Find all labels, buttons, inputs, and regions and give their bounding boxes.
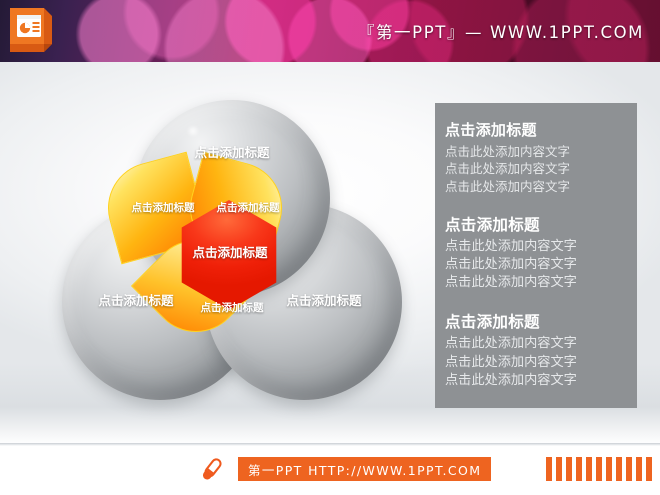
footer-url-text: 第一PPT HTTP://WWW.1PPT.COM bbox=[248, 460, 481, 479]
slide-preview: 『第一PPT』— WWW.1PPT.COM 点击添加标题 bbox=[0, 0, 660, 495]
footer-stripe bbox=[546, 457, 552, 481]
text-block-line: 点击此处添加内容文字 bbox=[445, 256, 627, 274]
footer-stripe bbox=[596, 457, 602, 481]
header-banner: 『第一PPT』— WWW.1PPT.COM bbox=[0, 0, 660, 62]
text-block-title: 点击添加标题 bbox=[445, 213, 627, 235]
text-block-line: 点击此处添加内容文字 bbox=[445, 354, 627, 372]
text-block-line: 点击此处添加内容文字 bbox=[445, 372, 627, 390]
text-block-line: 点击此处添加内容文字 bbox=[445, 274, 627, 292]
footer-stripe bbox=[636, 457, 642, 481]
text-block[interactable]: 点击添加标题 点击此处添加内容文字 点击此处添加内容文字 点击此处添加内容文字 bbox=[435, 292, 637, 390]
text-block-line: 点击此处添加内容文字 bbox=[445, 238, 627, 256]
footer-stripe bbox=[556, 457, 562, 481]
text-block-line: 点击此处添加内容文字 bbox=[445, 160, 627, 177]
footer-bar-area: 第一PPT HTTP://WWW.1PPT.COM bbox=[0, 443, 660, 495]
venn-diagram: 点击添加标题 点击添加标题 点击添加标题 点击添加标题 点击添加标题 点击添加标… bbox=[62, 100, 402, 400]
footer-stripe bbox=[626, 457, 632, 481]
text-block-line: 点击此处添加内容文字 bbox=[445, 335, 627, 353]
footer-stripe bbox=[646, 457, 652, 481]
slide-canvas: 点击添加标题 点击添加标题 点击添加标题 点击添加标题 点击添加标题 点击添加标… bbox=[0, 62, 660, 443]
powerpoint-app-icon bbox=[8, 6, 54, 54]
text-block[interactable]: 点击添加标题 点击此处添加内容文字 点击此处添加内容文字 点击此处添加内容文字 bbox=[435, 103, 637, 195]
sphere-highlight bbox=[186, 126, 200, 136]
footer-divider bbox=[0, 443, 660, 446]
footer-stripe bbox=[606, 457, 612, 481]
text-block-title: 点击添加标题 bbox=[445, 119, 627, 140]
footer-url-bar: 第一PPT HTTP://WWW.1PPT.COM bbox=[238, 457, 491, 481]
text-block-title: 点击添加标题 bbox=[445, 310, 627, 332]
text-block[interactable]: 点击添加标题 点击此处添加内容文字 点击此处添加内容文字 点击此处添加内容文字 bbox=[435, 195, 637, 293]
pencil-icon bbox=[196, 455, 226, 485]
footer-stripe bbox=[616, 457, 622, 481]
footer-stripe bbox=[586, 457, 592, 481]
header-title: 『第一PPT』— WWW.1PPT.COM bbox=[358, 19, 644, 43]
footer-stripe bbox=[566, 457, 572, 481]
venn-center-intersection[interactable] bbox=[174, 200, 284, 310]
footer-stripes bbox=[546, 457, 652, 481]
text-block-line: 点击此处添加内容文字 bbox=[445, 178, 627, 195]
text-panel: 点击添加标题 点击此处添加内容文字 点击此处添加内容文字 点击此处添加内容文字 … bbox=[435, 103, 637, 408]
text-block-line: 点击此处添加内容文字 bbox=[445, 143, 627, 160]
footer-stripe bbox=[576, 457, 582, 481]
